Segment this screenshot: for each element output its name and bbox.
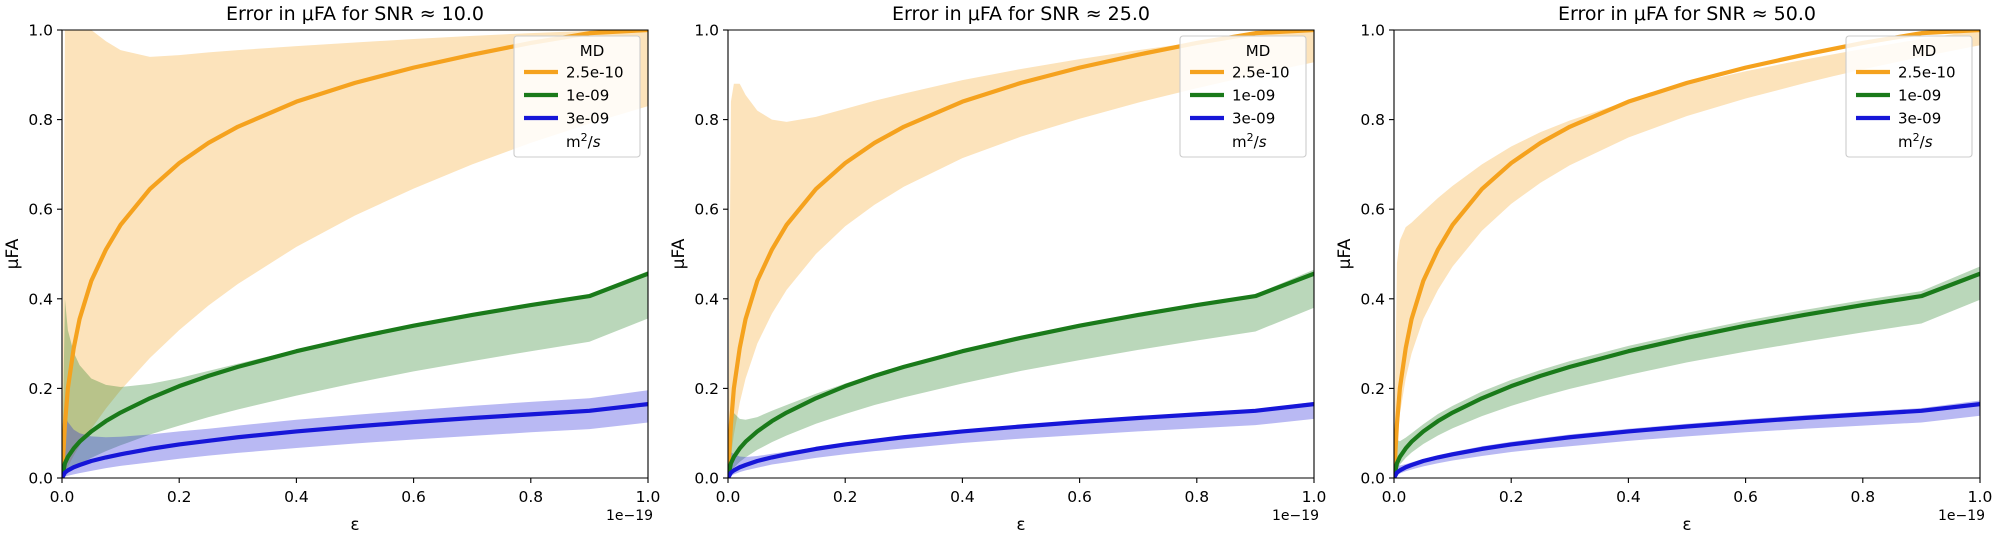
panel-title: Error in μFA for SNR ≈ 10.0 [226, 3, 484, 25]
legend[interactable]: MD2.5e-101e-093e-09m2/s [1180, 36, 1306, 157]
legend-title: MD [1912, 42, 1937, 60]
x-axis-exponent-label: 1e−19 [606, 508, 653, 524]
panel-title: Error in μFA for SNR ≈ 50.0 [1558, 3, 1816, 25]
x-axis-label: ε [1016, 515, 1025, 535]
chart-panel-snr-25: 0.00.20.40.60.81.00.00.20.40.60.81.0εμFA… [666, 0, 1332, 555]
x-tick-label: 0.0 [50, 488, 75, 506]
y-tick-label: 0.8 [28, 111, 53, 129]
legend-entry-label: 2.5e-10 [1232, 64, 1290, 82]
x-tick-label: 0.4 [284, 488, 309, 506]
y-axis-label: μFA [3, 238, 23, 269]
x-tick-label: 0.6 [401, 488, 426, 506]
chart-svg: 0.00.20.40.60.81.00.00.20.40.60.81.0εμFA… [666, 0, 1332, 555]
legend-entry-label: 3e-09 [566, 110, 609, 128]
y-tick-label: 0.6 [1360, 201, 1385, 219]
x-tick-label: 0.8 [1184, 488, 1209, 506]
legend-entry-label: 1e-09 [566, 87, 609, 105]
x-tick-label: 0.2 [1499, 488, 1524, 506]
x-tick-label: 0.4 [950, 488, 975, 506]
x-tick-label: 0.4 [1616, 488, 1641, 506]
legend-entry-label: 2.5e-10 [1898, 64, 1956, 82]
legend[interactable]: MD2.5e-101e-093e-09m2/s [514, 36, 640, 157]
legend-entry-label: 1e-09 [1232, 87, 1275, 105]
x-tick-label: 1.0 [636, 488, 661, 506]
y-tick-label: 0.8 [1360, 111, 1385, 129]
legend-entry-label: 3e-09 [1232, 110, 1275, 128]
x-axis-label: ε [1682, 515, 1691, 535]
x-tick-label: 1.0 [1968, 488, 1993, 506]
legend[interactable]: MD2.5e-101e-093e-09m2/s [1846, 36, 1972, 157]
x-tick-label: 0.8 [518, 488, 543, 506]
x-tick-label: 0.6 [1067, 488, 1092, 506]
x-axis-exponent-label: 1e−19 [1272, 508, 1319, 524]
y-axis-label: μFA [669, 238, 689, 269]
y-tick-label: 0.4 [1360, 290, 1385, 308]
y-tick-label: 0.0 [1360, 470, 1385, 488]
x-tick-label: 0.2 [833, 488, 858, 506]
chart-panel-snr-50: 0.00.20.40.60.81.00.00.20.40.60.81.0εμFA… [1332, 0, 1998, 555]
y-tick-label: 1.0 [1360, 22, 1385, 40]
y-tick-label: 0.8 [694, 111, 719, 129]
y-tick-label: 0.2 [28, 380, 53, 398]
chart-panel-snr-10: 0.00.20.40.60.81.00.00.20.40.60.81.0εμFA… [0, 0, 666, 555]
y-tick-label: 0.6 [694, 201, 719, 219]
x-tick-label: 0.0 [1382, 488, 1407, 506]
panel-title: Error in μFA for SNR ≈ 25.0 [892, 3, 1150, 25]
legend-entry-label: 3e-09 [1898, 110, 1941, 128]
chart-svg: 0.00.20.40.60.81.00.00.20.40.60.81.0εμFA… [1332, 0, 1998, 555]
x-tick-label: 0.0 [716, 488, 741, 506]
x-axis-label: ε [350, 515, 359, 535]
y-tick-label: 0.4 [28, 290, 53, 308]
y-tick-label: 0.6 [28, 201, 53, 219]
y-tick-label: 0.4 [694, 290, 719, 308]
y-tick-label: 1.0 [694, 22, 719, 40]
legend-title: MD [1246, 42, 1271, 60]
x-tick-label: 0.2 [167, 488, 192, 506]
x-tick-label: 0.6 [1733, 488, 1758, 506]
y-tick-label: 0.0 [694, 470, 719, 488]
y-axis-label: μFA [1335, 238, 1355, 269]
y-tick-label: 1.0 [28, 22, 53, 40]
chart-svg: 0.00.20.40.60.81.00.00.20.40.60.81.0εμFA… [0, 0, 666, 555]
legend-entry-label: 2.5e-10 [566, 64, 624, 82]
figure-root: 0.00.20.40.60.81.00.00.20.40.60.81.0εμFA… [0, 0, 1998, 555]
legend-title: MD [580, 42, 605, 60]
y-tick-label: 0.0 [28, 470, 53, 488]
x-tick-label: 0.8 [1850, 488, 1875, 506]
y-tick-label: 0.2 [694, 380, 719, 398]
y-tick-label: 0.2 [1360, 380, 1385, 398]
x-axis-exponent-label: 1e−19 [1938, 508, 1985, 524]
legend-entry-label: 1e-09 [1898, 87, 1941, 105]
x-tick-label: 1.0 [1302, 488, 1327, 506]
